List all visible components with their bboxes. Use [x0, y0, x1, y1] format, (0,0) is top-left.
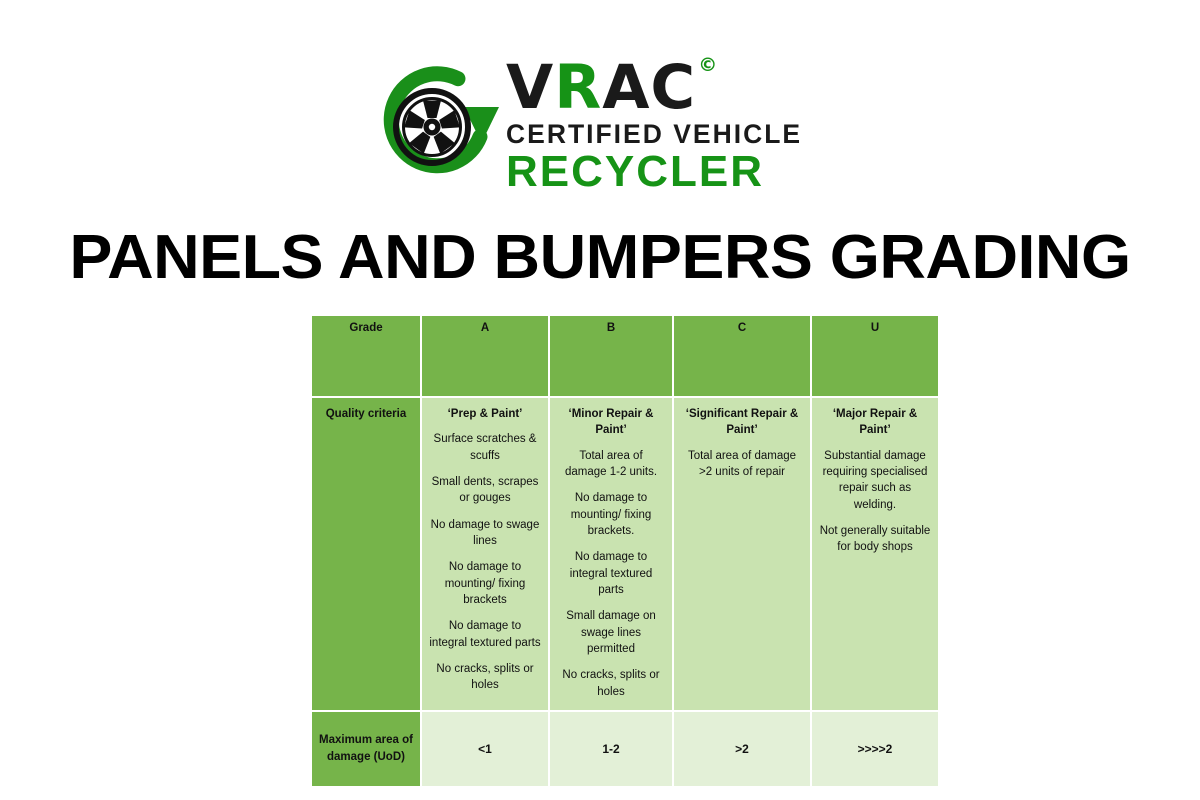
criteria-c-lead: ‘Significant Repair & Paint’	[681, 406, 803, 439]
row-label-quality-criteria: Quality criteria	[312, 398, 422, 712]
logo-subline: RECYCLER	[506, 150, 764, 195]
criteria-b-line-5: No cracks, splits or holes	[557, 667, 665, 700]
criteria-u-lead: ‘Major Repair & Paint’	[819, 406, 931, 439]
header-cell-grade-b: B	[550, 316, 674, 398]
criteria-a-line-3: No damage to swage lines	[429, 517, 541, 550]
header-cell-grade-c: C	[674, 316, 812, 398]
criteria-b-line-3: No damage to integral textured parts	[557, 549, 665, 598]
page-title: PANELS AND BUMPERS GRADING	[0, 222, 1200, 294]
header-cell-grade-u: U	[812, 316, 938, 398]
criteria-b-line-4: Small damage on swage lines permitted	[557, 608, 665, 657]
header-cell-grade: Grade	[312, 316, 422, 398]
header-cell-grade-a: A	[422, 316, 550, 398]
criteria-cell-b: ‘Minor Repair & Paint’ Total area of dam…	[550, 398, 674, 712]
value-cell-c: >2	[674, 712, 812, 786]
criteria-a-line-2: Small dents, scrapes or gouges	[429, 474, 541, 507]
copyright-icon: ©	[698, 54, 717, 76]
criteria-b-line-1: Total area of damage 1-2 units.	[557, 448, 665, 481]
criteria-a-line-5: No damage to integral textured parts	[429, 618, 541, 651]
value-cell-u: >>>>2	[812, 712, 938, 786]
logo-wordmark-group: VRAC© CERTIFIED VEHICLE RECYCLER	[502, 55, 840, 195]
grading-table: Grade A B C U Quality criteria ‘Prep & P…	[312, 316, 938, 786]
logo-letter-r: R	[554, 52, 602, 123]
value-cell-a: <1	[422, 712, 550, 786]
table-row-quality-criteria: Quality criteria ‘Prep & Paint’ Surface …	[312, 398, 938, 712]
criteria-a-lead: ‘Prep & Paint’	[429, 406, 541, 422]
criteria-u-line-1: Substantial damage requiring specialised…	[819, 448, 931, 513]
criteria-c-line-1: Total area of damage >2 units of repair	[681, 448, 803, 481]
vrac-logo: VRAC© CERTIFIED VEHICLE RECYCLER	[370, 55, 840, 200]
row-label-maximum-area: Maximum area of damage (UoD)	[312, 712, 422, 786]
criteria-a-line-1: Surface scratches & scuffs	[429, 431, 541, 464]
logo-letters-ac: AC	[602, 52, 696, 123]
criteria-cell-u: ‘Major Repair & Paint’ Substantial damag…	[812, 398, 938, 712]
criteria-b-lead: ‘Minor Repair & Paint’	[557, 406, 665, 439]
recycle-wheel-icon	[370, 55, 502, 195]
criteria-u-line-2: Not generally suitable for body shops	[819, 523, 931, 556]
logo-letter-v: V	[506, 52, 554, 123]
criteria-cell-a: ‘Prep & Paint’ Surface scratches & scuff…	[422, 398, 550, 712]
table-header-row: Grade A B C U	[312, 316, 938, 398]
table-row-maximum-area: Maximum area of damage (UoD) <1 1-2 >2 >…	[312, 712, 938, 786]
criteria-b-line-2: No damage to mounting/ fixing brackets.	[557, 490, 665, 539]
logo-wordmark: VRAC©	[506, 59, 715, 118]
criteria-a-line-6: No cracks, splits or holes	[429, 661, 541, 694]
criteria-cell-c: ‘Significant Repair & Paint’ Total area …	[674, 398, 812, 712]
value-cell-b: 1-2	[550, 712, 674, 786]
logo-tagline: CERTIFIED VEHICLE	[506, 120, 802, 150]
criteria-a-line-4: No damage to mounting/ fixing brackets	[429, 559, 541, 608]
